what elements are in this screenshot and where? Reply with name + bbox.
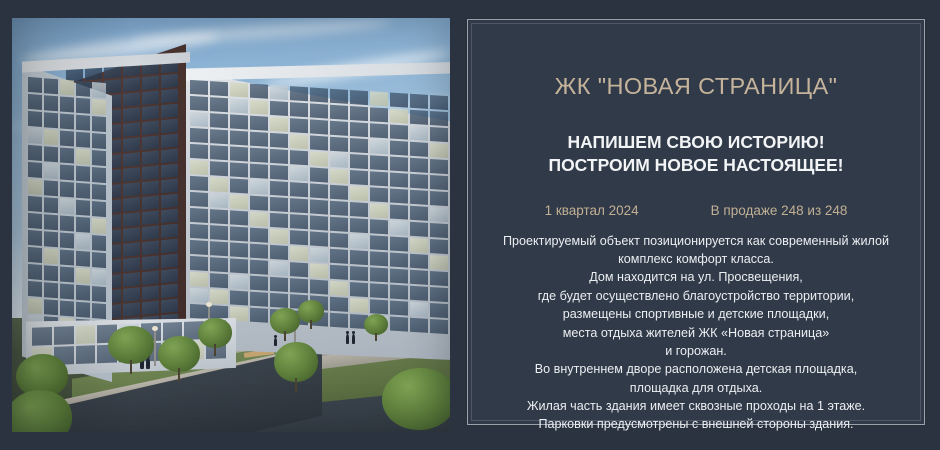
description-line: площадка для отдыха. [484, 379, 908, 397]
tree [12, 390, 72, 432]
project-meta: 1 квартал 2024 В продаже 248 из 248 [484, 203, 908, 218]
tree [270, 308, 300, 340]
tree [382, 368, 450, 432]
description-line: где будет осуществлено благоустройство т… [484, 287, 908, 305]
description-line: Во внутреннем дворе расположена детская … [484, 360, 908, 378]
description-line: комплекс комфорт класса. [484, 250, 908, 268]
description-line: Жилая часть здания имеет сквозные проход… [484, 397, 908, 415]
street-lamp [154, 330, 156, 366]
description-line: места отдыха жителей ЖК «Новая страница» [484, 324, 908, 342]
project-description: Проектируемый объект позиционируется как… [484, 232, 908, 434]
slogan-line-1: НАПИШЕМ СВОЮ ИСТОРИЮ! [567, 132, 824, 152]
project-info-panel: ЖК "НОВАЯ СТРАНИЦА" НАПИШЕМ СВОЮ ИСТОРИЮ… [467, 19, 925, 425]
description-line: Парковки предусмотрены с внешней стороны… [484, 415, 908, 433]
tree [158, 336, 200, 380]
slogan-line-2: ПОСТРОИМ НОВОЕ НАСТОЯЩЕЕ! [484, 154, 908, 177]
tree [274, 342, 318, 390]
tree [364, 314, 388, 340]
description-line: Проектируемый объект позиционируется как… [484, 232, 908, 250]
completion-quarter: 1 квартал 2024 [545, 203, 639, 218]
tree [298, 300, 324, 328]
person-figure [346, 334, 349, 344]
project-slogan: НАПИШЕМ СВОЮ ИСТОРИЮ! ПОСТРОИМ НОВОЕ НАС… [484, 131, 908, 178]
description-line: Дом находится на ул. Просвещения, [484, 268, 908, 286]
person-figure [352, 334, 355, 344]
tree [198, 318, 232, 354]
availability-count: В продаже 248 из 248 [711, 203, 848, 218]
render-scene [12, 18, 450, 432]
panel-inner-frame: ЖК "НОВАЯ СТРАНИЦА" НАПИШЕМ СВОЮ ИСТОРИЮ… [471, 23, 921, 421]
description-line: и горожан. [484, 342, 908, 360]
description-line: размещены спортивные и детские площадки, [484, 305, 908, 323]
project-render-image [12, 18, 450, 432]
project-title: ЖК "НОВАЯ СТРАНИЦА" [484, 72, 908, 100]
tree [108, 326, 154, 372]
